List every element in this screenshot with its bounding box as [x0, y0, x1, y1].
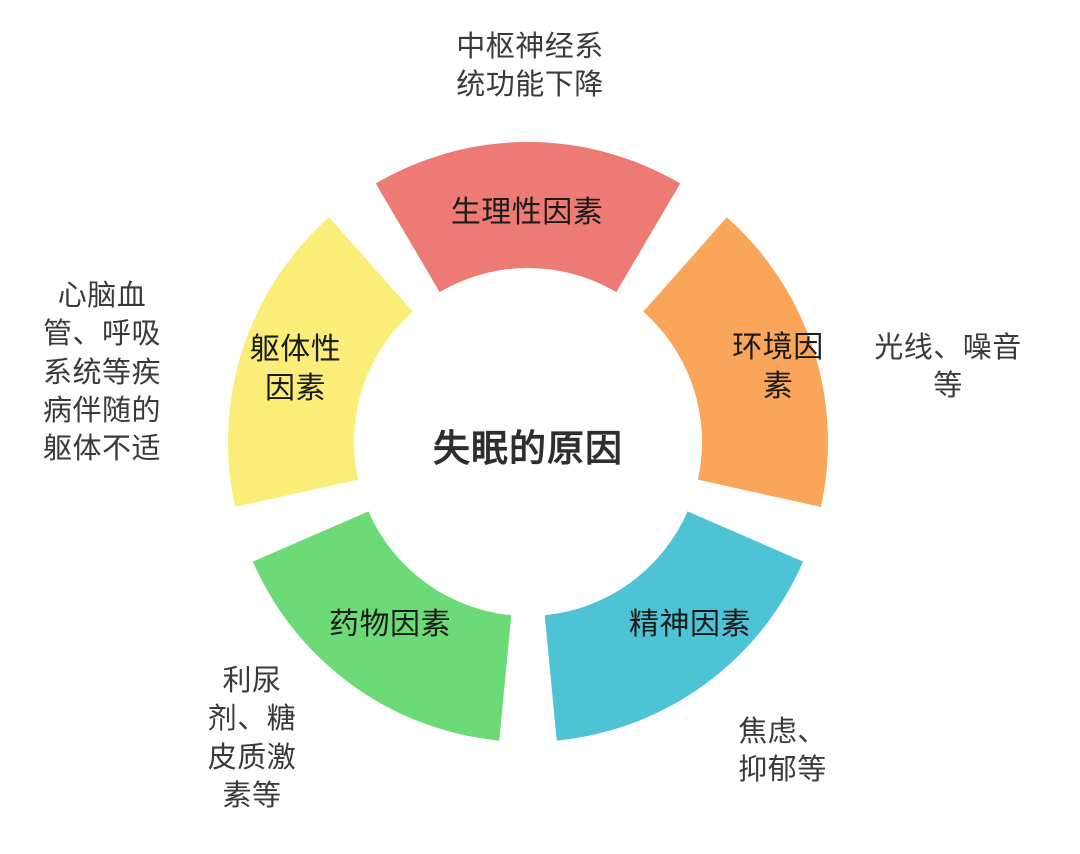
- description-physiological: 中枢神经系 统功能下降: [380, 28, 680, 105]
- segment-label-physiological[interactable]: 生理性因素: [352, 193, 702, 232]
- description-somatic: 心脑血 管、呼吸 系统等疾 病伴随的 躯体不适: [12, 277, 192, 468]
- description-environmental: 光线、噪音 等: [843, 329, 1053, 406]
- segment-label-somatic[interactable]: 躯体性 因素: [203, 330, 388, 408]
- diagram-canvas: 生理性因素 环境因 素 精神因素 药物因素 躯体性 因素 中枢神经系 统功能下降…: [0, 0, 1080, 854]
- segment-label-drug[interactable]: 药物因素: [265, 605, 515, 644]
- segment-label-environmental[interactable]: 环境因 素: [692, 328, 864, 406]
- description-psychiatric: 焦虑、 抑郁等: [690, 713, 875, 790]
- description-drug: 利尿 剂、糖 皮质激 素等: [172, 662, 332, 815]
- segment-label-psychiatric[interactable]: 精神因素: [570, 605, 810, 644]
- center-title: 失眠的原因: [328, 418, 728, 472]
